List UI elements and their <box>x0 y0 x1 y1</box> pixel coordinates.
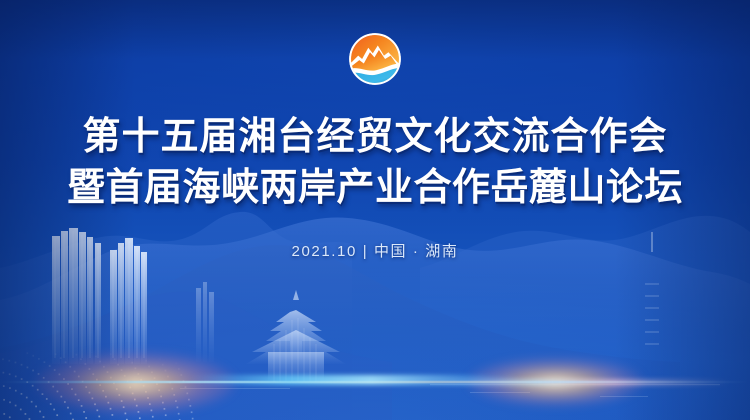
event-title: 第十五届湘台经贸文化交流合作会 暨首届海峡两岸产业合作岳麓山论坛 <box>0 112 750 214</box>
mountain-sun-water-emblem <box>347 31 403 87</box>
title-line-1: 第十五届湘台经贸文化交流合作会 <box>0 112 750 163</box>
title-line-2: 暨首届海峡两岸产业合作岳麓山论坛 <box>0 163 750 214</box>
poster-canvas: 第十五届湘台经贸文化交流合作会 暨首届海峡两岸产业合作岳麓山论坛 2021.10… <box>0 0 750 420</box>
event-date-location: 2021.10 | 中国 · 湖南 <box>0 240 750 261</box>
logo-icon <box>347 31 403 87</box>
